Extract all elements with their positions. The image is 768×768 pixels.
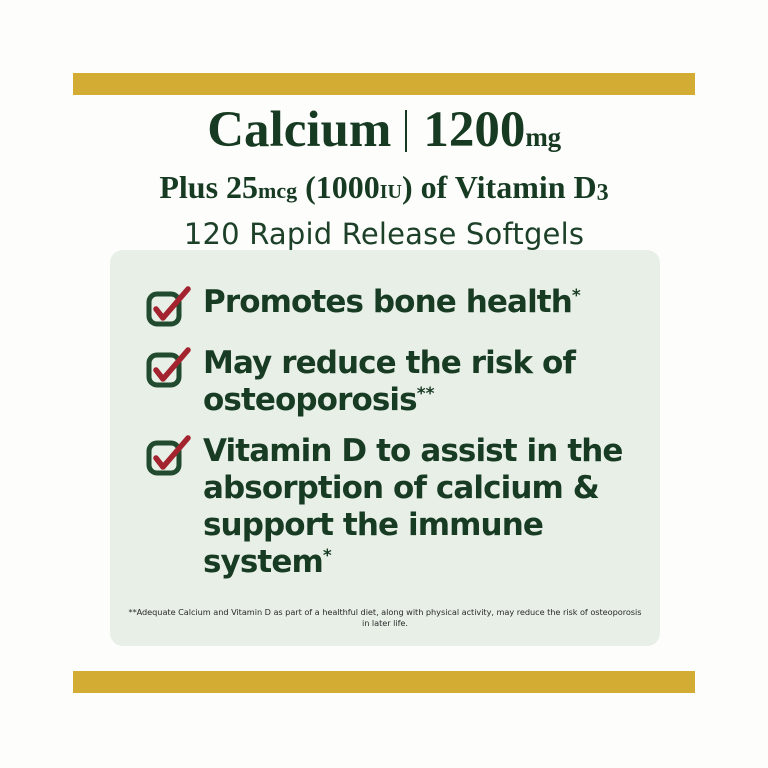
benefit-text-0: Promotes bone health	[203, 284, 572, 320]
benefit-label: Vitamin D to assist in the absorption of…	[203, 432, 643, 581]
title-divider	[405, 110, 407, 152]
subtitle-paren-close: )	[402, 169, 413, 205]
benefit-footnote-marker-0: *	[572, 286, 581, 306]
product-title: Calcium1200mg	[0, 104, 768, 163]
benefit-text-1: May reduce the risk of osteoporosis	[203, 345, 575, 418]
check-square-icon	[143, 346, 191, 392]
product-subtitle: Plus 25mcg (1000IU) of Vitamin D3	[0, 167, 768, 213]
strength-unit: mg	[525, 122, 560, 152]
benefit-label: May reduce the risk of osteoporosis**	[203, 344, 643, 419]
top-gold-rule	[73, 73, 695, 95]
subtitle-paren-open: (	[297, 169, 316, 205]
subtitle-dose: 25	[226, 169, 258, 205]
benefit-item: May reduce the risk of osteoporosis**	[143, 344, 643, 419]
check-square-icon	[143, 434, 191, 480]
benefit-footnote-marker-2: *	[323, 546, 332, 566]
subtitle-suffix: of Vitamin D	[413, 169, 597, 205]
product-label-panel: Calcium1200mg Plus 25mcg (1000IU) of Vit…	[0, 0, 768, 768]
benefit-item: Vitamin D to assist in the absorption of…	[143, 432, 643, 581]
headline-block: Calcium1200mg Plus 25mcg (1000IU) of Vit…	[0, 104, 768, 252]
softgel-count-line: 120 Rapid Release Softgels	[0, 216, 768, 252]
subtitle-iu-value: 1000	[316, 169, 380, 205]
bottom-gold-rule	[73, 671, 695, 693]
check-square-icon	[143, 285, 191, 331]
subtitle-prefix: Plus	[159, 169, 226, 205]
strength-value: 1200	[423, 102, 525, 158]
benefit-label: Promotes bone health*	[203, 283, 581, 321]
benefits-list: Promotes bone health* May reduce the ris…	[143, 283, 643, 594]
subtitle-d-number: 3	[597, 180, 609, 206]
subtitle-dose-unit: mcg	[258, 178, 297, 203]
disclaimer-footnote: **Adequate Calcium and Vitamin D as part…	[110, 607, 660, 629]
benefit-footnote-marker-1: **	[417, 384, 435, 404]
benefit-text-2: Vitamin D to assist in the absorption of…	[203, 433, 623, 580]
benefit-item: Promotes bone health*	[143, 283, 643, 331]
product-name: Calcium	[207, 102, 391, 158]
subtitle-iu-unit: IU	[380, 181, 402, 203]
benefits-panel: Promotes bone health* May reduce the ris…	[110, 250, 660, 646]
